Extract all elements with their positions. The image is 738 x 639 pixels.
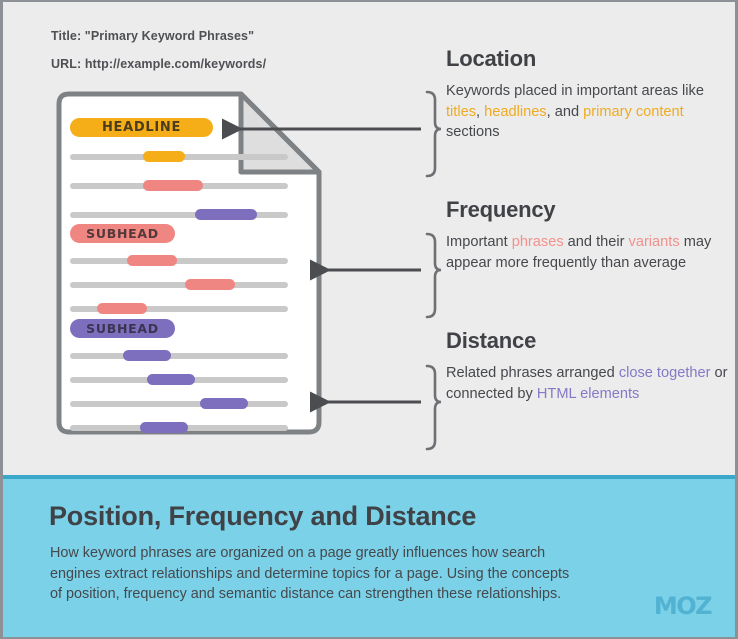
kw-html-elements: HTML elements — [537, 386, 639, 402]
keyword-segment-red — [185, 279, 235, 290]
keyword-segment-purple — [195, 209, 257, 220]
callout-body: Important phrases and their variants may… — [446, 232, 736, 273]
subhead-pill-purple: SUBHEAD — [70, 319, 175, 338]
text-rule — [70, 401, 288, 407]
text-rule — [70, 353, 288, 359]
kw-variants: variants — [629, 234, 680, 250]
page-url-meta: URL: http://example.com/keywords/ — [51, 57, 266, 71]
kw-primary-content: primary content — [583, 104, 684, 120]
headline-pill: HEADLINE — [70, 118, 213, 137]
document-mockup: HEADLINE SUBHEAD SUBHEAD — [55, 90, 323, 436]
callout-location: Location Keywords placed in important ar… — [446, 46, 736, 143]
text-rule — [70, 258, 288, 264]
summary-band: Position, Frequency and Distance How key… — [3, 475, 735, 637]
brace-distance — [427, 366, 441, 449]
keyword-segment-purple — [200, 398, 248, 409]
kw-titles: titles — [446, 104, 476, 120]
document-content: HEADLINE SUBHEAD SUBHEAD — [55, 90, 323, 436]
kw-phrases: phrases — [512, 234, 564, 250]
keyword-segment-purple — [140, 422, 188, 433]
kw-headlines: headlines — [484, 104, 546, 120]
subhead-pill-red: SUBHEAD — [70, 224, 175, 243]
keyword-segment-purple — [123, 350, 171, 361]
keyword-segment-purple — [147, 374, 195, 385]
callout-heading: Location — [446, 46, 736, 72]
band-body: How keyword phrases are organized on a p… — [50, 543, 570, 605]
kw-close-together: close together — [619, 365, 711, 381]
brace-frequency — [427, 234, 441, 317]
keyword-segment-red — [143, 180, 203, 191]
text-rule — [70, 282, 288, 288]
keyword-segment-yellow — [143, 151, 185, 162]
callout-frequency: Frequency Important phrases and their va… — [446, 197, 736, 273]
brace-location — [427, 92, 441, 176]
moz-logo: MOZ — [654, 592, 711, 620]
infographic-canvas: Title: "Primary Keyword Phrases" URL: ht… — [0, 0, 738, 639]
band-title: Position, Frequency and Distance — [49, 501, 476, 532]
keyword-segment-red — [127, 255, 177, 266]
callout-body: Keywords placed in important areas like … — [446, 81, 736, 143]
callout-heading: Distance — [446, 328, 736, 354]
page-title-meta: Title: "Primary Keyword Phrases" — [51, 29, 254, 43]
keyword-segment-red — [97, 303, 147, 314]
callout-distance: Distance Related phrases arranged close … — [446, 328, 736, 404]
callout-body: Related phrases arranged close together … — [446, 363, 736, 404]
callout-heading: Frequency — [446, 197, 736, 223]
